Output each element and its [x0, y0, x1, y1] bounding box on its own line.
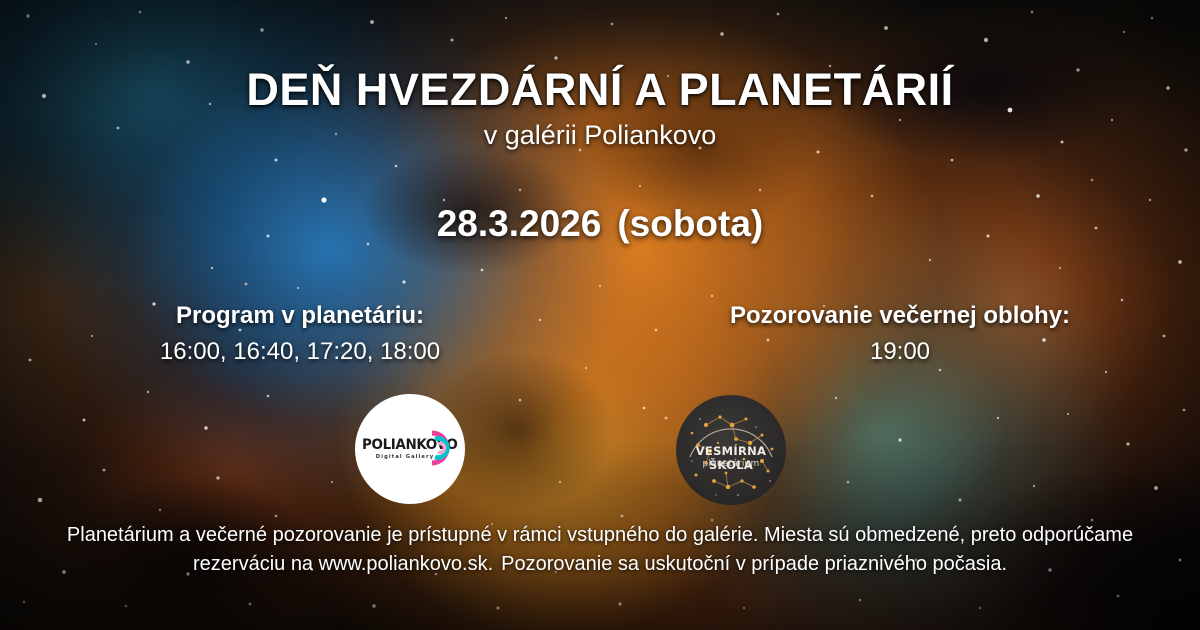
- planetarium-times: 16:00, 16:40, 17:20, 18:00: [0, 335, 600, 370]
- poliankovo-logo: POLIANKOVO Digital Gallery: [355, 394, 465, 504]
- event-poster: DEŇ HVEZDÁRNÍ A PLANETÁRIÍ v galérii Pol…: [0, 0, 1200, 630]
- footer-note: Planetárium a večerné pozorovanie je prí…: [0, 521, 1200, 579]
- observation-times: 19:00: [600, 335, 1200, 370]
- footer-reservation-text: rezerváciu na www.poliankovo.sk.: [193, 553, 493, 575]
- event-date: 28.3.2026(sobota): [0, 203, 1200, 245]
- poster-content: DEŇ HVEZDÁRNÍ A PLANETÁRIÍ v galérii Pol…: [0, 0, 1200, 630]
- footer-line-2: rezerváciu na www.poliankovo.sk.Pozorova…: [0, 550, 1200, 579]
- program-column-planetarium: Program v planetáriu: 16:00, 16:40, 17:2…: [0, 300, 600, 370]
- planetarium-heading: Program v planetáriu:: [0, 300, 600, 332]
- page-subtitle: v galérii Poliankovo: [0, 120, 1200, 151]
- footer-weather-text: Pozorovanie sa uskutoční v prípade priaz…: [501, 553, 1007, 575]
- vesmirna-skola-logo: VESMÍRNA ŠKOLA planetárium: [676, 395, 786, 505]
- vesmirna-tagline: planetárium: [676, 459, 786, 469]
- footer-line-1: Planetárium a večerné pozorovanie je prí…: [0, 521, 1200, 550]
- page-title: DEŇ HVEZDÁRNÍ A PLANETÁRIÍ: [0, 64, 1200, 116]
- logo-row: POLIANKOVO Digital Gallery: [0, 394, 1200, 504]
- event-date-value: 28.3.2026: [437, 203, 602, 244]
- program-column-observation: Pozorovanie večernej oblohy: 19:00: [600, 300, 1200, 370]
- observation-heading: Pozorovanie večernej oblohy:: [600, 300, 1200, 332]
- program-columns: Program v planetáriu: 16:00, 16:40, 17:2…: [0, 300, 1200, 370]
- poliankovo-arc-icon: [426, 429, 460, 472]
- event-day-name: (sobota): [617, 203, 763, 244]
